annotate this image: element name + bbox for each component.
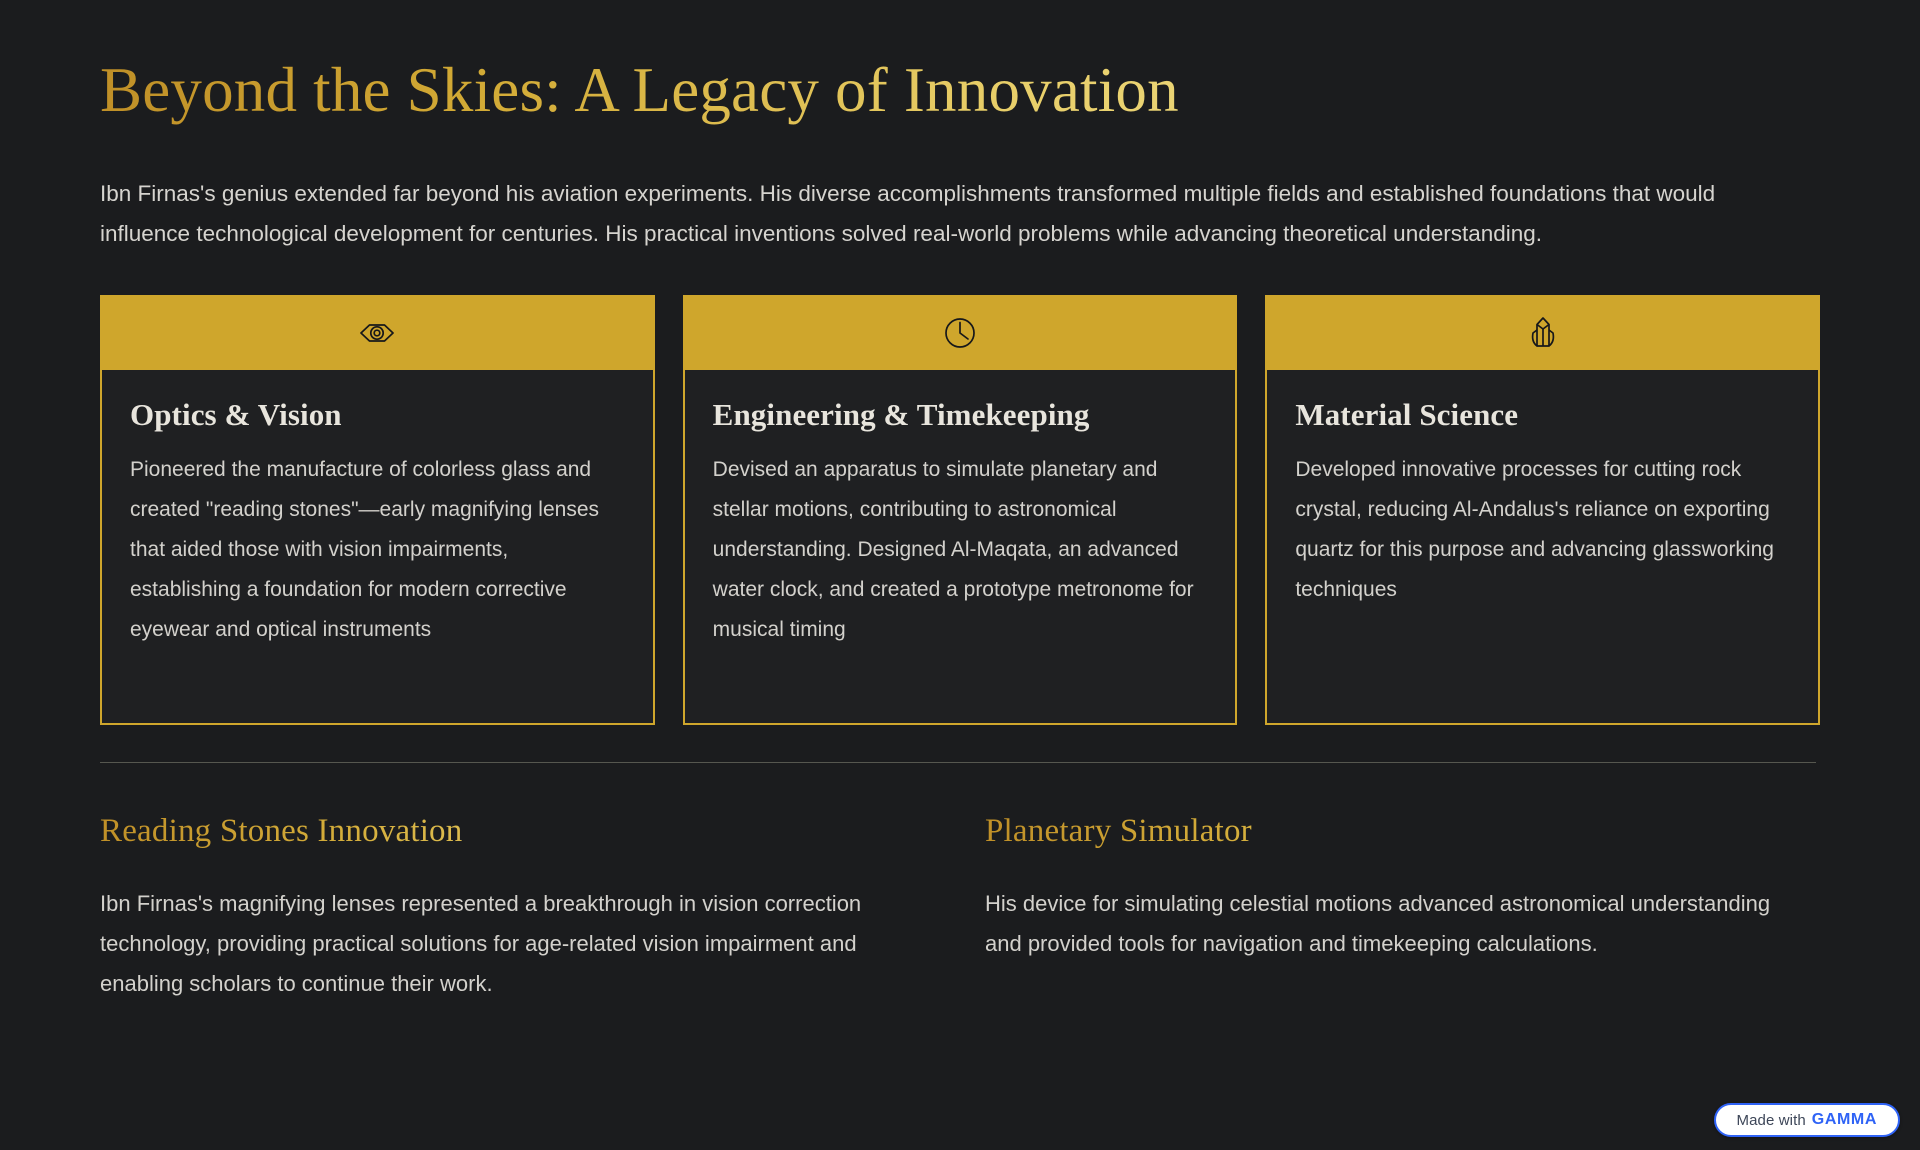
card-title: Optics & Vision [130, 397, 625, 433]
bottom-sections: Reading Stones Innovation Ibn Firnas's m… [100, 813, 1820, 1004]
section-divider [100, 762, 1816, 763]
card-body: Optics & Vision Pioneered the manufactur… [102, 370, 653, 680]
section-text: His device for simulating celestial moti… [985, 884, 1785, 964]
card-text: Devised an apparatus to simulate planeta… [713, 450, 1208, 650]
feature-card-list: Optics & Vision Pioneered the manufactur… [100, 295, 1820, 725]
badge-brand-label: GAMMA [1812, 1111, 1877, 1129]
card-text: Developed innovative processes for cutti… [1295, 450, 1790, 610]
crystal-icon [1524, 314, 1562, 352]
content-container: Beyond the Skies: A Legacy of Innovation… [100, 0, 1820, 1004]
card-icon-header [102, 297, 653, 370]
card-title: Engineering & Timekeeping [713, 397, 1208, 433]
bottom-section-planetary-simulator: Planetary Simulator His device for simul… [985, 813, 1785, 1004]
feature-card-material-science[interactable]: Material Science Developed innovative pr… [1265, 295, 1820, 725]
section-title: Reading Stones Innovation [100, 813, 900, 850]
clock-icon [941, 314, 979, 352]
card-text: Pioneered the manufacture of colorless g… [130, 450, 625, 650]
made-with-gamma-badge[interactable]: Made with GAMMA [1714, 1103, 1900, 1137]
eye-icon [358, 314, 396, 352]
card-body: Engineering & Timekeeping Devised an app… [685, 370, 1236, 680]
feature-card-optics[interactable]: Optics & Vision Pioneered the manufactur… [100, 295, 655, 725]
badge-prefix-label: Made with [1737, 1112, 1806, 1129]
card-icon-header [685, 297, 1236, 370]
card-title: Material Science [1295, 397, 1790, 433]
page-title: Beyond the Skies: A Legacy of Innovation [100, 55, 1820, 126]
bottom-section-reading-stones: Reading Stones Innovation Ibn Firnas's m… [100, 813, 900, 1004]
card-body: Material Science Developed innovative pr… [1267, 370, 1818, 640]
intro-paragraph: Ibn Firnas's genius extended far beyond … [100, 174, 1765, 254]
section-text: Ibn Firnas's magnifying lenses represent… [100, 884, 900, 1004]
feature-card-engineering[interactable]: Engineering & Timekeeping Devised an app… [683, 295, 1238, 725]
slide-root: Beyond the Skies: A Legacy of Innovation… [0, 0, 1920, 1150]
card-icon-header [1267, 297, 1818, 370]
section-title: Planetary Simulator [985, 813, 1785, 850]
